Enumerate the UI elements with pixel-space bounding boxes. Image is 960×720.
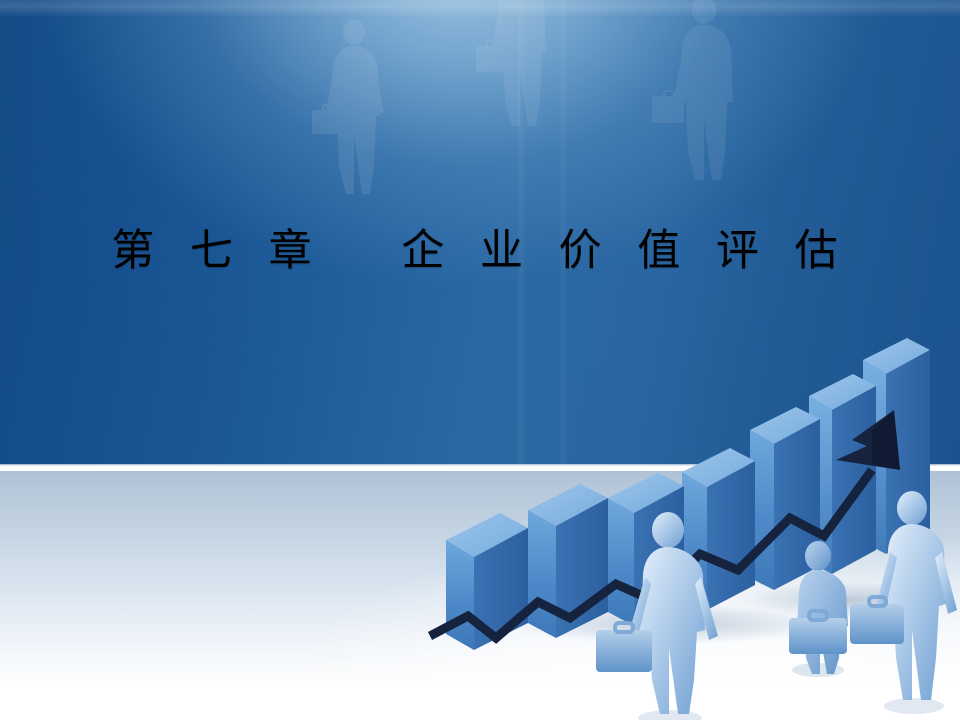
slide-title: 第 七 章 企 业 价 值 评 估 <box>0 228 960 275</box>
growth-chart-illustration <box>420 318 960 720</box>
presentation-slide: 第 七 章 企 业 价 值 评 估 <box>0 0 960 720</box>
